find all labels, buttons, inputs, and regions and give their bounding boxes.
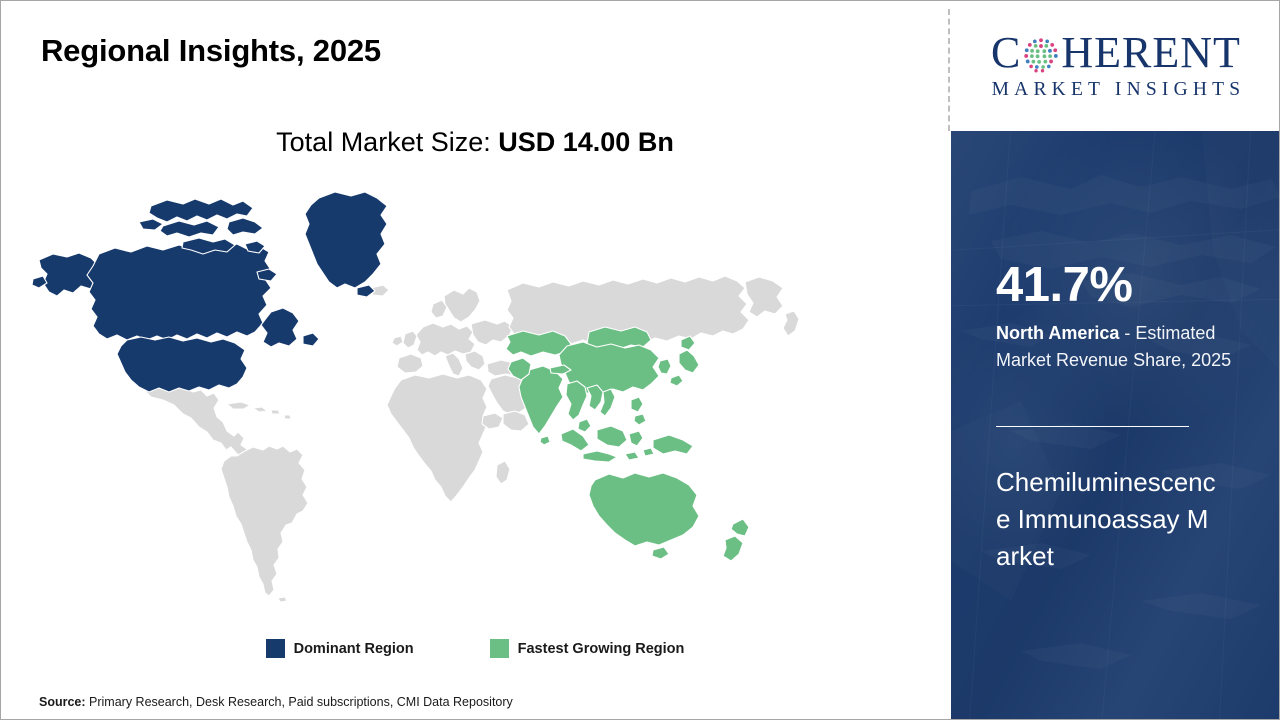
legend-swatch-dominant-icon bbox=[266, 639, 285, 658]
market-size-value: USD 14.00 Bn bbox=[498, 127, 674, 157]
page-title: Regional Insights, 2025 bbox=[41, 33, 381, 69]
source-label: Source: bbox=[39, 695, 86, 709]
stat-percent-value: 41.7% bbox=[996, 261, 1255, 311]
stat-content: 41.7% North America - Estimated Market R… bbox=[996, 261, 1255, 373]
source-note: Source: Primary Research, Desk Research,… bbox=[39, 695, 513, 709]
stat-divider-rule bbox=[996, 426, 1189, 427]
logo-wordmark-part1: C bbox=[991, 31, 1021, 75]
legend-swatch-fastest-icon bbox=[490, 639, 509, 658]
total-market-size: Total Market Size: USD 14.00 Bn bbox=[1, 127, 949, 158]
legend-label-fastest: Fastest Growing Region bbox=[518, 641, 685, 657]
stat-region-name: North America bbox=[996, 323, 1119, 343]
map-region-dominant bbox=[32, 192, 387, 392]
world-map-svg bbox=[31, 184, 921, 624]
map-region-fastest bbox=[506, 327, 749, 561]
logo-tagline: MARKET INSIGHTS bbox=[987, 79, 1246, 101]
stat-panel: 41.7% North America - Estimated Market R… bbox=[951, 131, 1280, 720]
coherent-globe-icon bbox=[1022, 36, 1060, 74]
vertical-dashed-divider bbox=[948, 9, 950, 131]
regional-insights-infographic: Regional Insights, 2025 Total Market Siz… bbox=[0, 0, 1280, 720]
market-size-label: Total Market Size: bbox=[276, 127, 491, 157]
market-name: Chemiluminescence Immunoassay Market bbox=[996, 464, 1216, 575]
stat-caption: North America - Estimated Market Revenue… bbox=[996, 320, 1255, 373]
legend-item-dominant: Dominant Region bbox=[266, 639, 414, 658]
logo-wordmark: C bbox=[991, 31, 1241, 75]
logo-wordmark-part2: HERENT bbox=[1061, 31, 1241, 75]
source-text: Primary Research, Desk Research, Paid su… bbox=[86, 695, 513, 709]
legend-label-dominant: Dominant Region bbox=[294, 641, 414, 657]
map-legend: Dominant Region Fastest Growing Region bbox=[1, 639, 949, 658]
world-map bbox=[31, 184, 921, 624]
company-logo: C bbox=[951, 1, 1280, 131]
left-content-pane: Regional Insights, 2025 Total Market Siz… bbox=[1, 1, 949, 720]
globe-dots-svg bbox=[1022, 36, 1060, 74]
legend-item-fastest: Fastest Growing Region bbox=[490, 639, 685, 658]
